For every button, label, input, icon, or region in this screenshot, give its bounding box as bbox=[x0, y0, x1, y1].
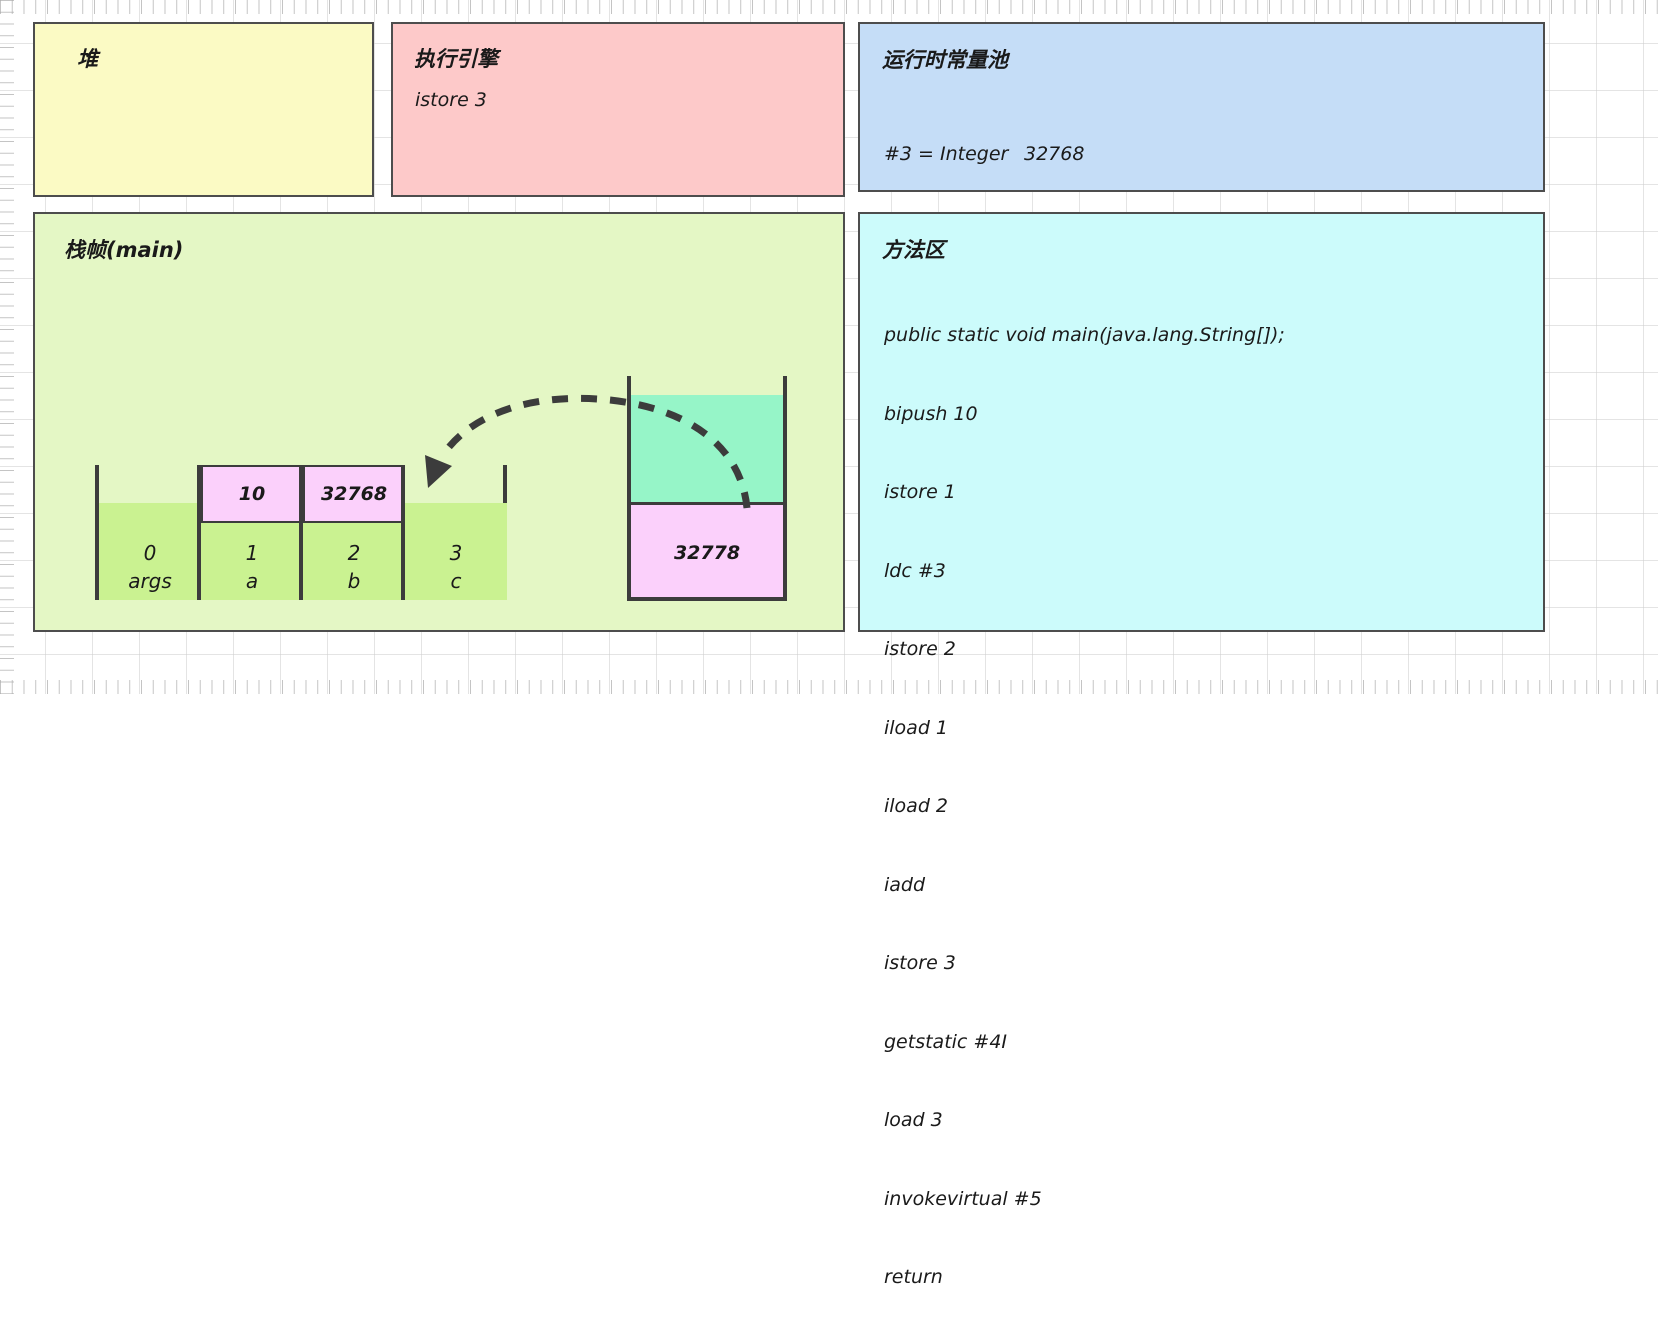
code-line: iload 1 bbox=[884, 715, 1285, 742]
lvt-slot-1-index: 1 bbox=[201, 541, 303, 565]
heap-region[interactable]: 堆 bbox=[33, 22, 374, 197]
runtime-constant-pool-region[interactable]: 运行时常量池 #3 = Integer32768 #4 = Fieldref//… bbox=[858, 22, 1545, 192]
heap-title: 堆 bbox=[77, 43, 98, 73]
code-line: bipush 10 bbox=[884, 401, 1285, 428]
code-line: load 3 bbox=[884, 1107, 1285, 1134]
runtime-constant-pool-title: 运行时常量池 bbox=[882, 44, 1008, 74]
code-line: istore 1 bbox=[884, 479, 1285, 506]
code-line: return bbox=[884, 1264, 1285, 1291]
code-line: istore 3 bbox=[884, 950, 1285, 977]
code-line: public static void main(java.lang.String… bbox=[884, 322, 1285, 349]
lvt-slot-3-index: 3 bbox=[405, 541, 507, 565]
lvt-divider-0-1 bbox=[197, 465, 201, 600]
execution-engine-region[interactable]: 执行引擎 istore 3 bbox=[391, 22, 845, 197]
execution-engine-title: 执行引擎 bbox=[414, 43, 498, 73]
code-line: istore 2 bbox=[884, 636, 1285, 663]
lvt-slot-3-name: c bbox=[405, 569, 507, 593]
method-area-region[interactable]: 方法区 public static void main(java.lang.St… bbox=[858, 212, 1545, 632]
lvt-slot-3[interactable]: 3 c bbox=[405, 503, 507, 600]
lvt-slot-0-index: 0 bbox=[99, 541, 201, 565]
lvt-slot-2-name: b bbox=[303, 569, 405, 593]
constant-pool-entry: #3 = Integer32768 bbox=[884, 141, 1451, 167]
lvt-slot-0[interactable]: 0 args bbox=[99, 503, 201, 600]
code-line: getstatic #4I bbox=[884, 1029, 1285, 1056]
lvt-slot-0-name: args bbox=[99, 569, 201, 593]
operand-stack-cell-top[interactable] bbox=[631, 395, 783, 505]
ruler-top bbox=[0, 0, 1658, 14]
lvt-divider-1-2 bbox=[299, 465, 303, 600]
stack-frame-title: 栈帧(main) bbox=[64, 234, 183, 264]
lvt-slot-1-name: a bbox=[201, 569, 303, 593]
local-variable-table: 0 args 1 a 10 2 b 32768 3 c bbox=[95, 465, 507, 600]
lvt-slot-1-value: 10 bbox=[201, 465, 303, 523]
code-line: invokevirtual #5 bbox=[884, 1186, 1285, 1213]
ruler-bottom bbox=[0, 680, 1658, 694]
lvt-divider-2-3 bbox=[401, 465, 405, 600]
operand-stack-bottom-wall bbox=[627, 597, 787, 601]
current-instruction: istore 3 bbox=[415, 87, 487, 113]
operand-stack-right-wall bbox=[783, 376, 787, 600]
operand-stack-cell-bottom[interactable]: 32778 bbox=[631, 505, 783, 600]
method-area-code: public static void main(java.lang.String… bbox=[884, 270, 1285, 1343]
ruler-left bbox=[0, 0, 14, 694]
constant-pool-entry-value: 32768 bbox=[1024, 143, 1084, 165]
method-area-title: 方法区 bbox=[882, 234, 945, 264]
lvt-slot-2-index: 2 bbox=[303, 541, 405, 565]
code-line: iload 2 bbox=[884, 793, 1285, 820]
operand-stack: 32778 bbox=[627, 376, 787, 600]
constant-pool-entry-key: #3 = Integer bbox=[884, 141, 1024, 167]
code-line: ldc #3 bbox=[884, 558, 1285, 585]
code-line: iadd bbox=[884, 872, 1285, 899]
lvt-slot-2-value: 32768 bbox=[303, 465, 405, 523]
